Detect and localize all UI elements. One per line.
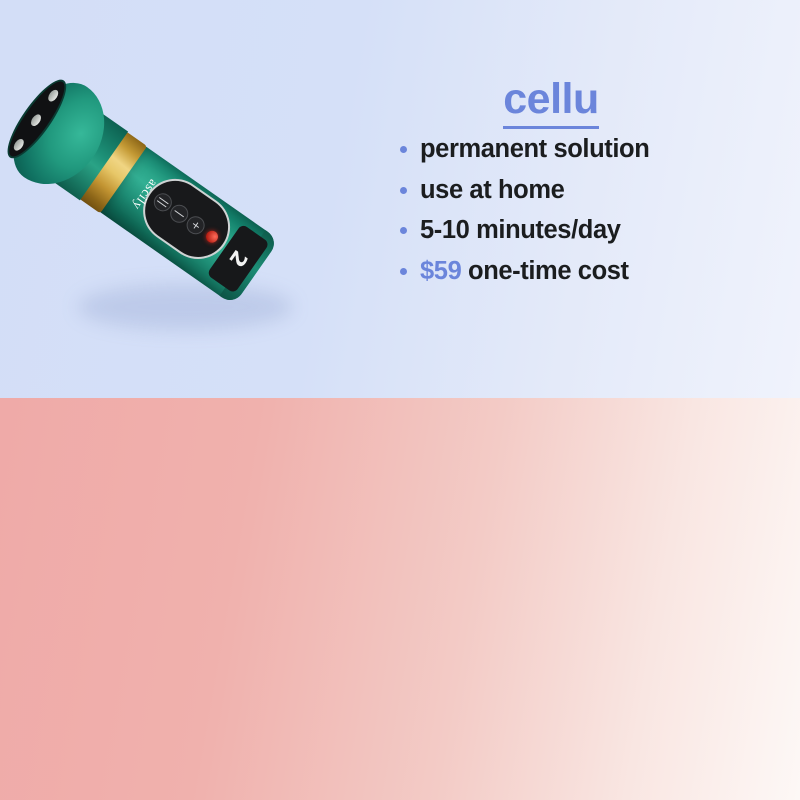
list-item: use at home bbox=[396, 170, 776, 211]
list-item: $59 one-time cost bbox=[396, 251, 776, 292]
feature-text: one-time cost bbox=[461, 257, 628, 285]
alternative-panel: cremes destroys skin risky side effects … bbox=[0, 398, 800, 800]
feature-text: permanent solution bbox=[420, 135, 649, 163]
device-illustration: 2 + | || ascily bbox=[21, 85, 288, 317]
power-indicator-icon bbox=[204, 228, 221, 245]
feature-text: use at home bbox=[420, 176, 564, 204]
contact-node bbox=[12, 137, 26, 152]
contact-node bbox=[29, 113, 43, 128]
product-device-image: 2 + | || ascily bbox=[48, 52, 378, 352]
device-shadow bbox=[78, 284, 293, 330]
product-title-wrap: cellu bbox=[396, 78, 706, 129]
product-text-column: cellu permanent solution use at home 5-1… bbox=[396, 78, 776, 291]
bullet-icon bbox=[400, 268, 407, 275]
product-title: cellu bbox=[503, 78, 599, 129]
bullet-icon bbox=[400, 227, 407, 234]
list-item: 5-10 minutes/day bbox=[396, 210, 776, 251]
product-feature-list: permanent solution use at home 5-10 minu… bbox=[396, 129, 776, 291]
feature-text: 5-10 minutes/day bbox=[420, 216, 621, 244]
bullet-icon bbox=[400, 187, 407, 194]
product-panel: 2 + | || ascily bbox=[0, 0, 800, 398]
bullet-icon bbox=[400, 146, 407, 153]
contact-node bbox=[46, 88, 60, 103]
feature-price: $59 bbox=[420, 257, 461, 285]
device-contact-face bbox=[0, 72, 75, 165]
comparison-infographic: 2 + | || ascily bbox=[0, 0, 800, 800]
list-item: permanent solution bbox=[396, 129, 776, 170]
